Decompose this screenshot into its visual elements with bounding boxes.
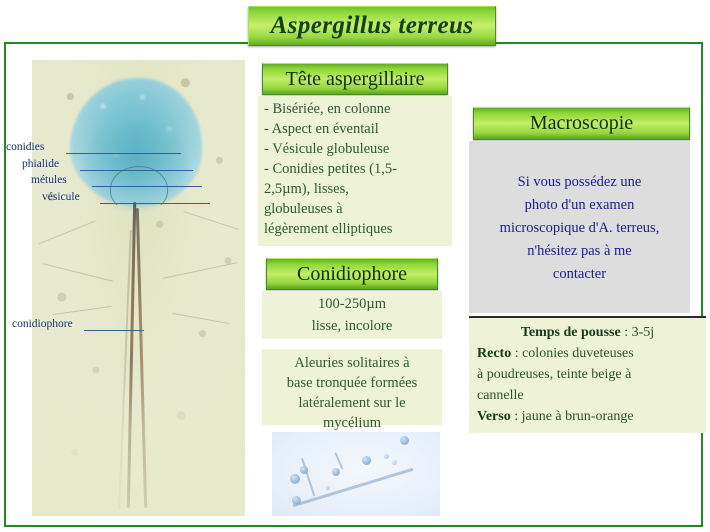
- leader-line-metules: [92, 186, 202, 187]
- label-vesicule: vésicule: [42, 191, 80, 203]
- conidiophore-line: 100-250µm: [262, 293, 442, 315]
- macroscopie-panel: Si vous possédez une photo d'un examen m…: [469, 141, 690, 313]
- macroscopie-header-label: Macroscopie: [530, 112, 633, 135]
- label-conidiophore: conidiophore: [12, 318, 73, 330]
- tete-line: - Conidies petites (1,5-: [264, 159, 452, 179]
- hypha-branch: [301, 458, 316, 497]
- macroscopie-line: photo d'un examen: [481, 194, 678, 217]
- culture-verso-label: Verso: [477, 409, 511, 424]
- culture-recto-label: Recto: [477, 346, 511, 361]
- leader-line-conidiophore: [84, 330, 144, 331]
- conidiophore-header: Conidiophore: [266, 258, 438, 290]
- macroscopie-line: Si vous possédez une: [481, 171, 678, 194]
- culture-recto-value: : colonies duveteuses: [511, 346, 633, 361]
- tete-line: - Vésicule globuleuse: [264, 139, 452, 159]
- macroscopie-header: Macroscopie: [473, 107, 690, 140]
- tete-line: - Aspect en éventail: [264, 119, 452, 139]
- culture-verso-row: Verso : jaune à brun-orange: [477, 406, 698, 427]
- culture-recto-cont1: à poudreuses, teinte beige à: [477, 364, 698, 385]
- leader-line-conidies: [66, 153, 181, 154]
- aleurie-spore: [300, 466, 308, 474]
- aleurie-spore: [392, 460, 397, 465]
- photo-lower-fade: [32, 360, 245, 516]
- microscopy-photo-aspergillar-head: [32, 60, 245, 516]
- aleuries-line: latéralement sur le: [262, 393, 442, 413]
- label-phialide: phialide: [22, 158, 59, 170]
- culture-temps-label: Temps de pousse: [521, 325, 621, 340]
- aleuries-line: base tronquée formées: [262, 373, 442, 393]
- tete-line: 2,5µm), lisses,: [264, 179, 452, 199]
- culture-panel: Temps de pousse : 3-5j Recto : colonies …: [469, 316, 706, 433]
- aleurie-spore: [326, 486, 330, 490]
- aleurie-spore: [384, 454, 389, 459]
- vesicle-outline: [110, 166, 168, 212]
- tete-aspergillaire-panel: - Bisériée, en colonne - Aspect en évent…: [258, 96, 452, 246]
- aleuries-panel: Aleuries solitaires à base tronquée form…: [262, 349, 442, 425]
- aleuries-line: mycélium: [262, 413, 442, 433]
- culture-recto-cont2: cannelle: [477, 385, 698, 406]
- tete-aspergillaire-header-label: Tête aspergillaire: [285, 68, 424, 91]
- label-metules: métules: [31, 174, 67, 186]
- culture-verso-value: : jaune à brun-orange: [511, 409, 634, 424]
- aleurie-spore: [400, 436, 409, 445]
- culture-temps-row: Temps de pousse : 3-5j: [477, 322, 698, 343]
- leader-line-vesicule: [100, 203, 210, 204]
- aleurie-spore: [362, 456, 371, 465]
- macroscopie-line: contacter: [481, 263, 678, 286]
- tete-line: - Bisériée, en colonne: [264, 99, 452, 119]
- aleurie-spore: [332, 468, 340, 476]
- aleurie-spore: [290, 474, 300, 484]
- page-title-banner: Aspergillus terreus: [248, 6, 496, 46]
- culture-temps-value: : 3-5j: [621, 325, 654, 340]
- leader-line-phialide: [80, 170, 193, 171]
- tete-aspergillaire-header: Tête aspergillaire: [262, 63, 448, 95]
- microscopy-photo-aleuries: [272, 432, 440, 516]
- macroscopie-line: n'hésitez pas à me: [481, 240, 678, 263]
- conidiophore-panel: 100-250µm lisse, incolore: [262, 291, 442, 339]
- conidiophore-line: lisse, incolore: [262, 315, 442, 337]
- conidiophore-header-label: Conidiophore: [297, 263, 407, 286]
- tete-line: légèrement elliptiques: [264, 219, 452, 239]
- label-conidies: conidies: [6, 141, 44, 153]
- page-title: Aspergillus terreus: [271, 12, 474, 40]
- culture-recto-row: Recto : colonies duveteuses: [477, 343, 698, 364]
- aleuries-line: Aleuries solitaires à: [262, 353, 442, 373]
- macroscopie-line: microscopique d'A. terreus,: [481, 217, 678, 240]
- macroscopie-text: Si vous possédez une photo d'un examen m…: [469, 141, 690, 286]
- aleurie-spore: [292, 496, 301, 505]
- tete-line: globuleuses à: [264, 199, 452, 219]
